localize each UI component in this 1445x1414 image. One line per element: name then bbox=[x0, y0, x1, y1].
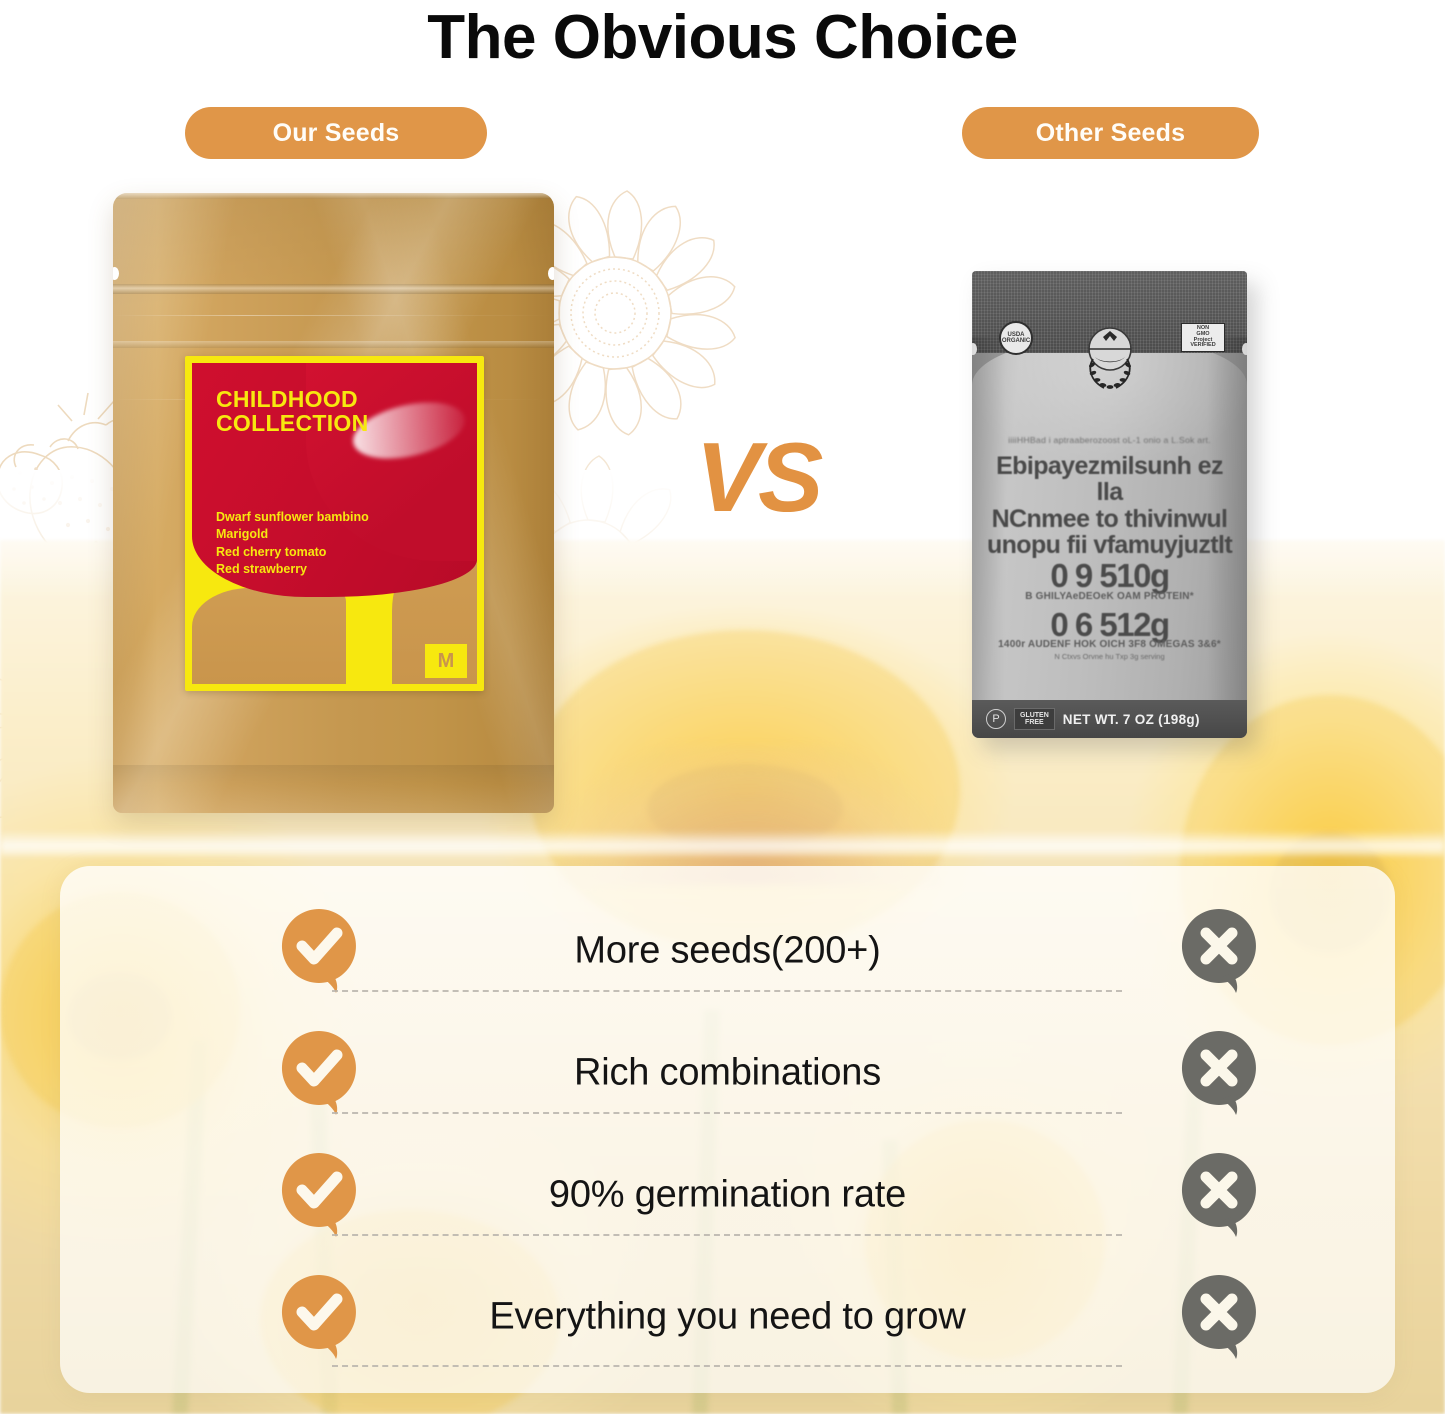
seed-variety-item: Marigold bbox=[216, 526, 456, 543]
check-mark-icon bbox=[280, 1029, 358, 1117]
comparison-row-label: 90% germination rate bbox=[360, 1174, 1095, 1217]
seed-variety-item: Red cherry tomato bbox=[216, 544, 456, 561]
nongmo-line-4: VERIFIED bbox=[1190, 343, 1215, 349]
label-seed-list: Dwarf sunflower bambino Marigold Red che… bbox=[216, 509, 456, 578]
cross-mark-icon bbox=[1180, 1151, 1258, 1239]
brand-logo-mark: M bbox=[425, 644, 467, 678]
badge-other-seeds: Other Seeds bbox=[962, 107, 1259, 159]
check-mark-icon bbox=[280, 907, 358, 995]
comparison-row-label: Rich combinations bbox=[360, 1052, 1095, 1095]
usda-organic-seal-icon: USDA ORGANIC bbox=[999, 321, 1033, 355]
seed-variety-item: Dwarf sunflower bambino bbox=[216, 509, 456, 526]
seed-variety-item: Red strawberry bbox=[216, 561, 456, 578]
other-product-pouch: USDA ORGANIC NON GMO Project VERIFIED bbox=[972, 271, 1247, 738]
comparison-row: More seeds(200+) bbox=[60, 890, 1395, 1012]
product-label-inner: CHILDHOOD COLLECTION Dwarf sunflower bam… bbox=[192, 363, 477, 684]
pouch-bottom-band: P GLUTEN FREE NET WT. 7 OZ (198g) bbox=[972, 700, 1247, 738]
label-title-line-1: CHILDHOOD bbox=[216, 387, 446, 411]
bag-crease bbox=[113, 315, 554, 316]
cross-mark-icon bbox=[1180, 907, 1258, 995]
check-mark-icon bbox=[280, 1273, 358, 1361]
pouch-nutrition-block: 0 9 510g B GHILYAeDEOeK OAM PROTEIN* 0 6… bbox=[978, 559, 1241, 661]
nutrition-row-1-value: 0 9 510g bbox=[978, 559, 1241, 593]
usda-seal-line-2: ORGANIC bbox=[1002, 338, 1030, 344]
our-product-bag: CHILDHOOD COLLECTION Dwarf sunflower bam… bbox=[113, 193, 554, 813]
bag-secondary-seal bbox=[113, 341, 554, 348]
gluten-free-badge-icon: GLUTEN FREE bbox=[1014, 708, 1055, 731]
product-label: CHILDHOOD COLLECTION Dwarf sunflower bam… bbox=[185, 356, 484, 691]
row-divider bbox=[332, 1234, 1122, 1236]
pouch-headline-line-2: NCnmee to thivinwul bbox=[980, 506, 1239, 532]
pouch-headline-blurred: Ebipayezmilsunh ez lla NCnmee to thivinw… bbox=[980, 453, 1239, 558]
cross-mark-icon bbox=[1180, 1029, 1258, 1117]
versus-marker: VS bbox=[668, 428, 848, 526]
bag-bottom-fold bbox=[113, 765, 554, 813]
pouch-tagline-blurred: iiiiHHBad i aptraaberozoost oL-1 onio a … bbox=[980, 435, 1239, 445]
gluten-free-line-1: GLUTEN bbox=[1020, 712, 1049, 719]
bag-top-edge bbox=[113, 193, 554, 199]
nutrition-footnote: N Ctxvs Orvne hu Txp 3g serving bbox=[978, 652, 1241, 661]
comparison-row: 90% germination rate bbox=[60, 1134, 1395, 1256]
nutrition-row-1-caption: B GHILYAeDEOeK OAM PROTEIN* bbox=[978, 591, 1241, 602]
row-divider bbox=[332, 1112, 1122, 1114]
pouch-headline-line-3: unopu fii vfamuyjuztlt bbox=[980, 532, 1239, 558]
nutrition-row-2-caption: 1400r AUDENF HOK OICH 3F8 OMEGAS 3&6* bbox=[978, 639, 1241, 650]
comparison-row: Everything you need to grow bbox=[60, 1256, 1395, 1378]
bag-tear-notch-right bbox=[548, 267, 554, 280]
comparison-row: Rich combinations bbox=[60, 1012, 1395, 1134]
pouch-headline-line-1: Ebipayezmilsunh ez lla bbox=[980, 453, 1239, 506]
gluten-free-line-2: FREE bbox=[1020, 719, 1049, 726]
check-mark-icon bbox=[280, 1151, 358, 1239]
cross-mark-icon bbox=[1180, 1273, 1258, 1361]
net-weight-text: NET WT. 7 OZ (198g) bbox=[1063, 712, 1200, 727]
label-tan-left-shape bbox=[192, 588, 346, 684]
comparison-card: More seeds(200+) Rich combinations bbox=[60, 866, 1395, 1393]
badge-our-seeds: Our Seeds bbox=[185, 107, 487, 159]
nutrition-row-2-value: 0 6 512g bbox=[978, 608, 1241, 642]
kosher-p-icon: P bbox=[986, 709, 1006, 729]
laurel-crest-icon bbox=[1071, 319, 1149, 393]
label-product-title: CHILDHOOD COLLECTION bbox=[216, 387, 446, 436]
non-gmo-project-seal-icon: NON GMO Project VERIFIED bbox=[1181, 323, 1225, 352]
label-title-line-2: COLLECTION bbox=[216, 411, 446, 435]
comparison-row-label: More seeds(200+) bbox=[360, 930, 1095, 973]
bag-zipper-seal bbox=[113, 284, 554, 294]
row-divider bbox=[332, 990, 1122, 992]
comparison-row-label: Everything you need to grow bbox=[360, 1296, 1095, 1339]
comparison-rows: More seeds(200+) Rich combinations bbox=[60, 866, 1395, 1393]
row-divider bbox=[332, 1365, 1122, 1367]
page-title: The Obvious Choice bbox=[0, 2, 1445, 73]
